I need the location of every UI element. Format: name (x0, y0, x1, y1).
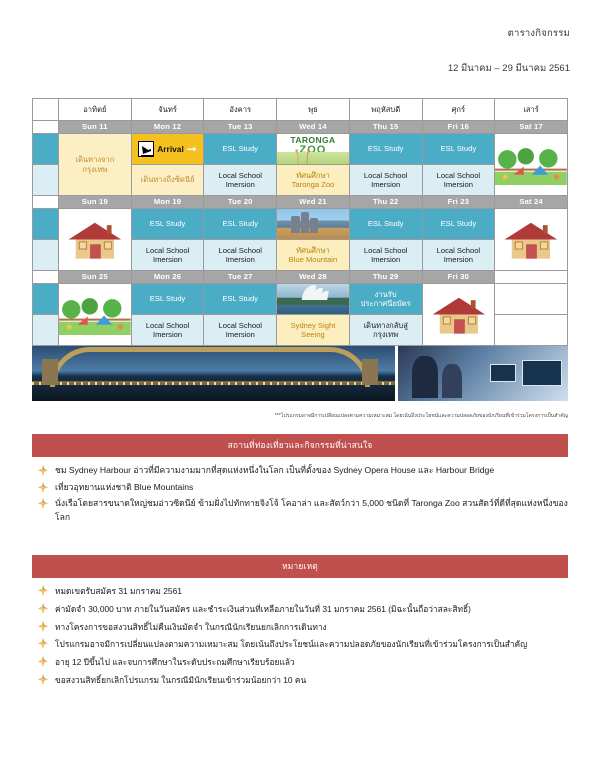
calendar-dayname: ศุกร์ (422, 99, 495, 121)
calendar-activity-cell: Sydney SightSeeing (277, 315, 350, 346)
list-item: ขอสงวนสิทธิ์ยกเลิกโปรแกรม ในกรณีมีนักเรี… (32, 671, 568, 689)
list-item-text: ชม Sydney Harbour อ่าวที่มีความงามมากที่… (55, 464, 568, 478)
calendar-activity-cell: Local SchoolImersion (204, 165, 277, 196)
calendar-activity-cell: ESL Study (131, 284, 204, 315)
star-bullet-icon (38, 498, 48, 510)
star-bullet-icon (38, 482, 48, 494)
blue-mountains-photo (277, 209, 349, 239)
activity-calendar: อาทิตย์จันทร์อังคารพุธพฤหัสบดีศุกร์เสาร์… (32, 98, 568, 346)
calendar-date-cell: Fri 16 (422, 121, 495, 134)
attractions-heading: สถานที่ท่องเที่ยวและกิจกรรมที่น่าสนใจ (32, 434, 568, 457)
program-disclaimer: ***โปรแกรมอาจมีการเปลี่ยนแปลงตามความเหมา… (32, 413, 568, 420)
park-playground-clipart (59, 284, 131, 345)
calendar-date-cell: Sun 11 (59, 121, 132, 134)
arrival-label: Arrival (157, 144, 184, 155)
star-bullet-icon (38, 656, 48, 668)
calendar-activity-cell: TARONGAZOO (277, 134, 350, 165)
star-bullet-icon (38, 638, 48, 650)
calendar-dayname: พุธ (277, 99, 350, 121)
host-family-house-clipart (495, 209, 567, 270)
calendar-activity-cell (422, 284, 495, 346)
calendar-morning-row: เดินทางจากกรุงเทพArrival➞ESL StudyTARONG… (33, 134, 568, 165)
calendar-dayname: พฤหัสบดี (349, 99, 422, 121)
calendar-activity-cell: ESL Study (349, 134, 422, 165)
calendar-morning-row: ESL StudyESL StudyESL StudyESL Study (33, 209, 568, 240)
calendar-activity-cell: ESL Study (204, 284, 277, 315)
calendar-activity-cell: Local SchoolImersion (349, 240, 422, 271)
calendar-date-cell: Mon 19 (131, 196, 204, 209)
list-item-text: นั่งเรือโดยสารขนาดใหญ่ชมอ่าวซิดนีย์ ข้าม… (55, 497, 568, 525)
list-item-text: หมดเขตรับสมัคร 31 มกราคม 2561 (55, 584, 568, 599)
star-bullet-icon (38, 674, 48, 686)
list-item-text: เที่ยวอุทยานแห่งชาติ Blue Mountains (55, 481, 568, 495)
calendar-date-cell: Tue 27 (204, 271, 277, 284)
calendar-dayname-row: อาทิตย์จันทร์อังคารพุธพฤหัสบดีศุกร์เสาร์ (33, 99, 568, 121)
calendar-date-cell: Wed 14 (277, 121, 350, 134)
list-item-text: อายุ 12 ปีขึ้นไป และจบการศึกษาในระดับประ… (55, 655, 568, 670)
calendar-date-cell: Sat 24 (495, 196, 568, 209)
arrival-sign-graphic: Arrival➞ (132, 134, 204, 164)
list-item: นั่งเรือโดยสารขนาดใหญ่ชมอ่าวซิดนีย์ ข้าม… (32, 496, 568, 527)
calendar-date-cell: Wed 21 (277, 196, 350, 209)
row-label-morning (33, 284, 59, 315)
calendar-date-cell: Tue 13 (204, 121, 277, 134)
calendar-date-cell: Fri 30 (422, 271, 495, 284)
calendar-date-cell: Thu 15 (349, 121, 422, 134)
arrow-right-icon: ➞ (187, 143, 197, 155)
star-bullet-icon (38, 465, 48, 477)
list-item: หมดเขตรับสมัคร 31 มกราคม 2561 (32, 583, 568, 601)
calendar-activity-cell (277, 284, 350, 315)
calendar-activity-cell: ทัศนศึกษาBlue Mountain (277, 240, 350, 271)
date-range: 12 มีนาคม – 29 มีนาคม 2561 (30, 61, 570, 76)
document-header: ตารางกิจกรรม 12 มีนาคม – 29 มีนาคม 2561 (0, 0, 600, 76)
calendar-date-cell: Mon 26 (131, 271, 204, 284)
star-bullet-icon (38, 603, 48, 615)
host-family-house-clipart (423, 284, 495, 345)
calendar-activity-cell (277, 209, 350, 240)
calendar-activity-cell: ESL Study (204, 134, 277, 165)
notes-section: หมายเหตุ หมดเขตรับสมัคร 31 มกราคม 2561ค่… (32, 555, 568, 689)
calendar-activity-cell: Local SchoolImersion (131, 240, 204, 271)
calendar-activity-cell: Local SchoolImersion (204, 240, 277, 271)
notes-list: หมดเขตรับสมัคร 31 มกราคม 2561ค่ามัดจำ 30… (32, 583, 568, 689)
row-label-morning (33, 209, 59, 240)
calendar-activity-cell: ESL Study (349, 209, 422, 240)
calendar-activity-cell (495, 134, 568, 196)
host-family-house-clipart (59, 209, 131, 270)
list-item: โปรแกรมอาจมีการเปลี่ยนแปลงตามความเหมาะสม… (32, 636, 568, 654)
calendar-date-row: Sun 11Mon 12Tue 13Wed 14Thu 15Fri 16Sat … (33, 121, 568, 134)
calendar-activity-cell: ESL Study (422, 134, 495, 165)
calendar-activity-cell: ทัศนศึกษาTaronga Zoo (277, 165, 350, 196)
list-item-text: โปรแกรมอาจมีการเปลี่ยนแปลงตามความเหมาะสม… (55, 637, 568, 652)
calendar-activity-cell (59, 209, 132, 271)
star-bullet-icon (38, 585, 48, 597)
row-label-afternoon (33, 315, 59, 346)
list-item: อายุ 12 ปีขึ้นไป และจบการศึกษาในระดับประ… (32, 654, 568, 672)
calendar-activity-cell: เดินทางจากกรุงเทพ (59, 134, 132, 196)
corner-cell (33, 99, 59, 121)
calendar-date-cell: Sat 17 (495, 121, 568, 134)
calendar-activity-cell: Local SchoolImersion (131, 315, 204, 346)
calendar-dayname: อังคาร (204, 99, 277, 121)
calendar-activity-cell: ESL Study (131, 209, 204, 240)
photo-strip (32, 346, 568, 401)
calendar-date-row: Sun 19Mon 19Tue 20Wed 21Thu 22Fri 23Sat … (33, 196, 568, 209)
attractions-section: สถานที่ท่องเที่ยวและกิจกรรมที่น่าสนใจ ชม… (32, 434, 568, 527)
calendar-activity-cell: ESL Study (422, 209, 495, 240)
calendar-activity-cell (495, 209, 568, 271)
calendar-activity-cell: Local SchoolImersion (204, 315, 277, 346)
calendar-activity-cell: Local SchoolImersion (422, 240, 495, 271)
calendar-activity-cell: Local SchoolImersion (422, 165, 495, 196)
calendar-date-cell: Thu 22 (349, 196, 422, 209)
star-bullet-icon (38, 621, 48, 633)
calendar-activity-cell: เดินทางถึงซิดนีย์ (131, 165, 204, 196)
classroom-photo (398, 346, 568, 401)
calendar-date-cell: Tue 20 (204, 196, 277, 209)
calendar-date-cell: Thu 29 (349, 271, 422, 284)
calendar-date-cell-empty (495, 271, 568, 284)
harbour-bridge-photo (32, 346, 395, 401)
row-label-afternoon (33, 240, 59, 271)
calendar-activity-cell: Local SchoolImersion (349, 165, 422, 196)
calendar-dayname: เสาร์ (495, 99, 568, 121)
calendar-activity-cell: Arrival➞ (131, 134, 204, 165)
list-item: ชม Sydney Harbour อ่าวที่มีความงามมากที่… (32, 462, 568, 479)
attractions-list: ชม Sydney Harbour อ่าวที่มีความงามมากที่… (32, 462, 568, 527)
row-label-afternoon (33, 165, 59, 196)
document-page: ตารางกิจกรรม 12 มีนาคม – 29 มีนาคม 2561 … (0, 0, 600, 776)
calendar-activity-cell: เดินทางกลับสู่กรุงเทพ (349, 315, 422, 346)
list-item-text: ค่ามัดจำ 30,000 บาท ภายในวันสมัคร และชำร… (55, 602, 568, 617)
plane-landing-icon (138, 141, 154, 157)
notes-heading: หมายเหตุ (32, 555, 568, 578)
taronga-zoo-logo: TARONGAZOO (277, 134, 349, 164)
list-item: ทางโครงการขอสงวนสิทธิ์ไม่คืนเงินมัดจำ ใน… (32, 618, 568, 636)
list-item: ค่ามัดจำ 30,000 บาท ภายในวันสมัคร และชำร… (32, 601, 568, 619)
list-item-text: ทางโครงการขอสงวนสิทธิ์ไม่คืนเงินมัดจำ ใน… (55, 620, 568, 635)
calendar-date-cell: Sun 19 (59, 196, 132, 209)
calendar-activity-cell: ESL Study (204, 209, 277, 240)
park-playground-clipart (495, 134, 567, 195)
date-row-corner (33, 121, 59, 134)
calendar-date-cell: Sun 25 (59, 271, 132, 284)
calendar-activity-cell (59, 284, 132, 346)
calendar-activity-cell (495, 315, 568, 346)
date-row-corner (33, 271, 59, 284)
calendar-date-cell: Wed 28 (277, 271, 350, 284)
calendar-activity-cell (495, 284, 568, 315)
calendar-table: อาทิตย์จันทร์อังคารพุธพฤหัสบดีศุกร์เสาร์… (32, 98, 568, 346)
page-title: ตารางกิจกรรม (30, 26, 570, 41)
calendar-date-cell: Fri 23 (422, 196, 495, 209)
row-label-morning (33, 134, 59, 165)
calendar-dayname: อาทิตย์ (59, 99, 132, 121)
list-item: เที่ยวอุทยานแห่งชาติ Blue Mountains (32, 479, 568, 496)
list-item-text: ขอสงวนสิทธิ์ยกเลิกโปรแกรม ในกรณีมีนักเรี… (55, 673, 568, 688)
calendar-morning-row: ESL StudyESL Studyงานรับประกาศนียบัตร (33, 284, 568, 315)
calendar-date-row: Sun 25Mon 26Tue 27Wed 28Thu 29Fri 30 (33, 271, 568, 284)
calendar-date-cell: Mon 12 (131, 121, 204, 134)
calendar-dayname: จันทร์ (131, 99, 204, 121)
date-row-corner (33, 196, 59, 209)
calendar-activity-cell: งานรับประกาศนียบัตร (349, 284, 422, 315)
sydney-opera-house-photo (277, 284, 349, 314)
